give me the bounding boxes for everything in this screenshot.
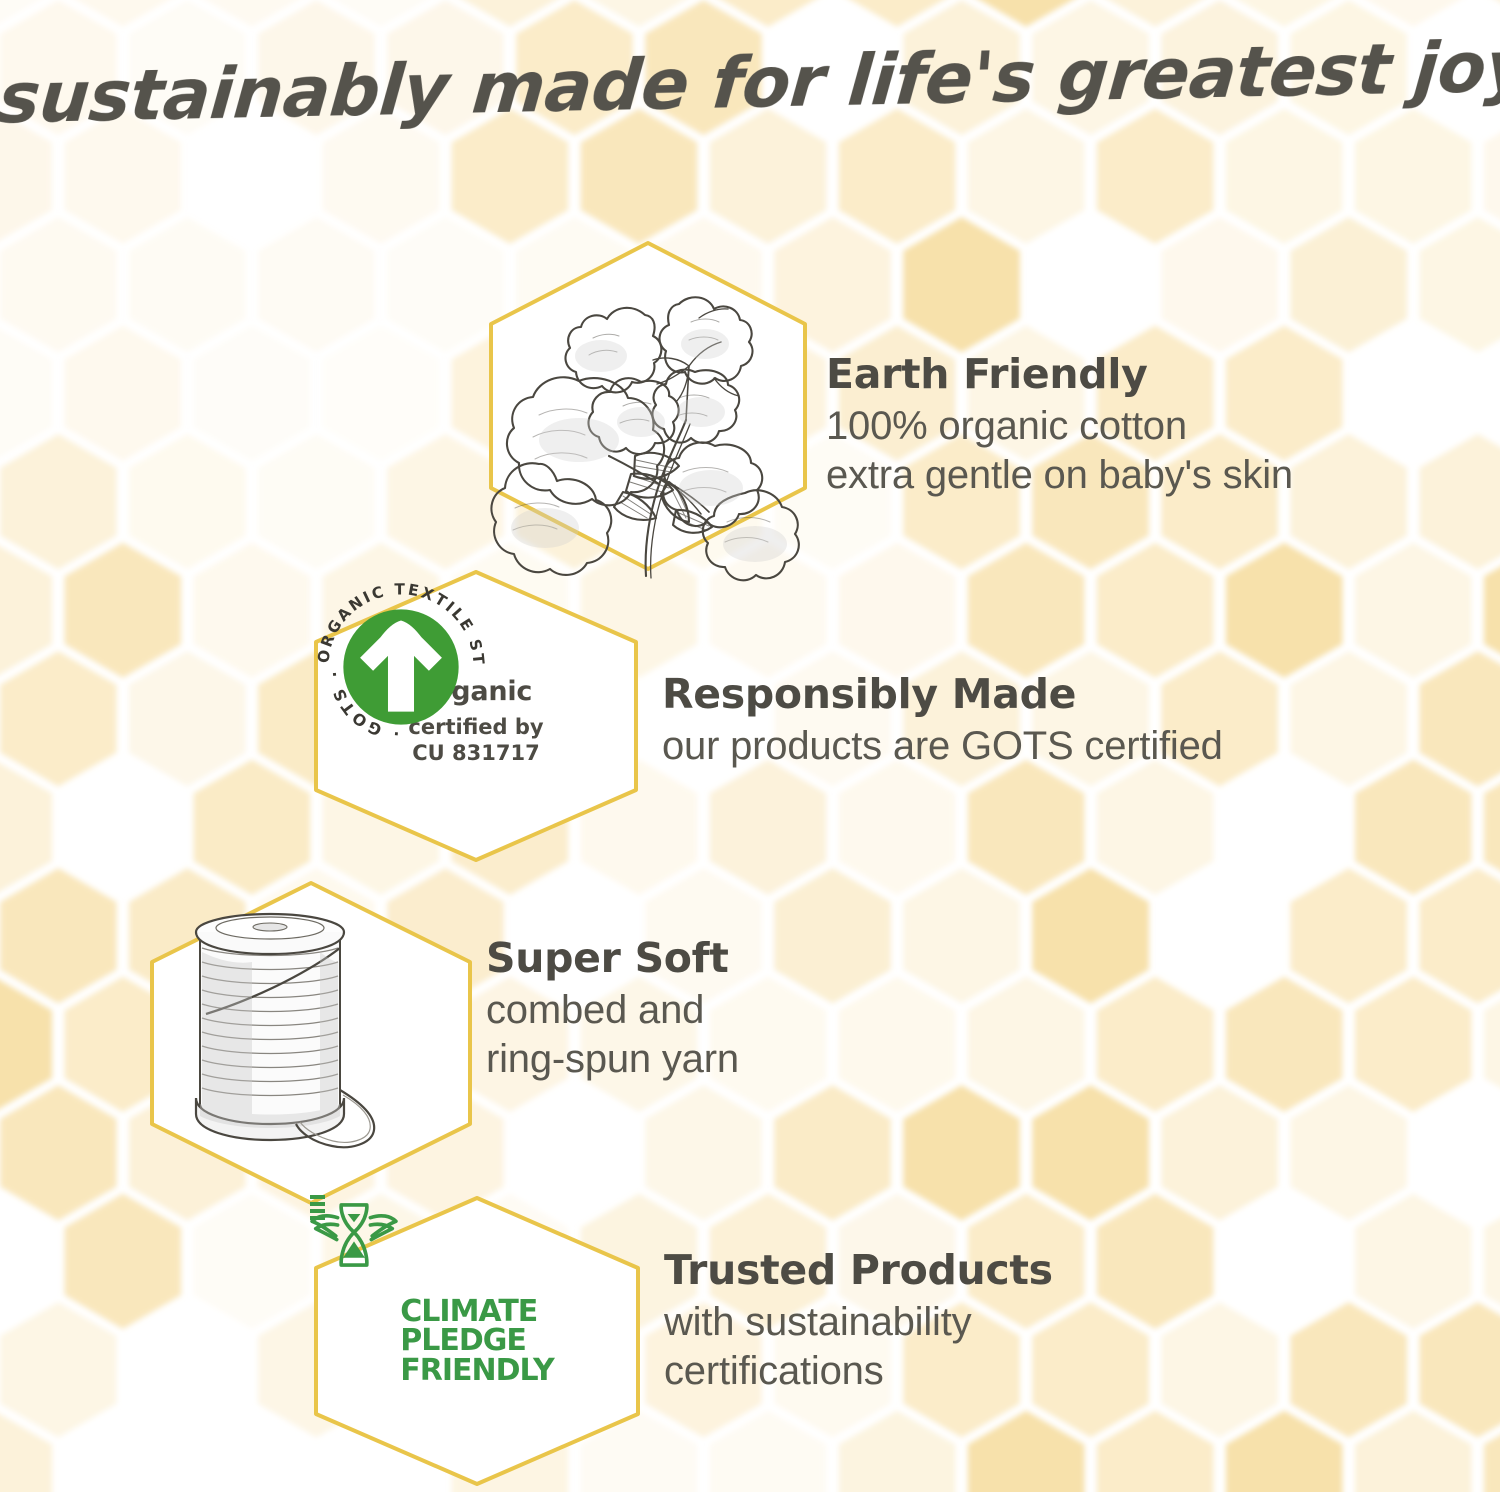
cpf-line-2: PLEDGE [400, 1326, 526, 1355]
feature-line: with sustainability [664, 1298, 1053, 1347]
hexagon-card-earth-friendly [483, 238, 813, 574]
climate-pledge-friendly-wordmark: CLIMATE PLEDGE [400, 1297, 553, 1385]
hexagon-card-trusted-products: CLIMATE PLEDGE [308, 1194, 646, 1488]
cpf-line-1: CLIMATE [400, 1297, 537, 1326]
feature-text-trusted-products: Trusted Products with sustainability cer… [664, 1248, 1053, 1396]
cotton-branch-illustration [483, 260, 803, 600]
climate-pledge-friendly-logo: CLIMATE PLEDGE [400, 1297, 553, 1385]
cpf-line-3: FRIENDLY [400, 1356, 553, 1385]
gots-organic-certification-logo: GLOBAL ORGANIC TEXTILE STANDARD · GOTS · [308, 574, 494, 760]
thread-spool-illustration [144, 892, 396, 1164]
feature-text-earth-friendly: Earth Friendly 100% organic cotton extra… [826, 352, 1293, 500]
feature-line: extra gentle on baby's skin [826, 451, 1293, 500]
feature-title: Super Soft [486, 936, 739, 982]
infographic-canvas: sustainably made for life's greatest joy… [0, 0, 1500, 1492]
gots-certification-block: GLOBAL ORGANIC TEXTILE STANDARD · GOTS ·… [408, 666, 543, 766]
winged-hourglass-icon [308, 1194, 400, 1276]
feature-line: 100% organic cotton [826, 402, 1293, 451]
feature-text-responsibly-made: Responsibly Made our products are GOTS c… [662, 672, 1223, 771]
feature-line: combed and [486, 986, 739, 1035]
feature-title: Responsibly Made [662, 672, 1223, 718]
feature-title: Earth Friendly [826, 352, 1293, 398]
feature-title: Trusted Products [664, 1248, 1053, 1294]
feature-text-super-soft: Super Soft combed and ring-spun yarn [486, 936, 739, 1084]
hexagon-card-responsibly-made: GLOBAL ORGANIC TEXTILE STANDARD · GOTS ·… [308, 568, 644, 864]
feature-line: our products are GOTS certified [662, 722, 1223, 771]
feature-line: certifications [664, 1347, 1053, 1396]
hexagon-card-super-soft [144, 878, 478, 1208]
feature-line: ring-spun yarn [486, 1035, 739, 1084]
